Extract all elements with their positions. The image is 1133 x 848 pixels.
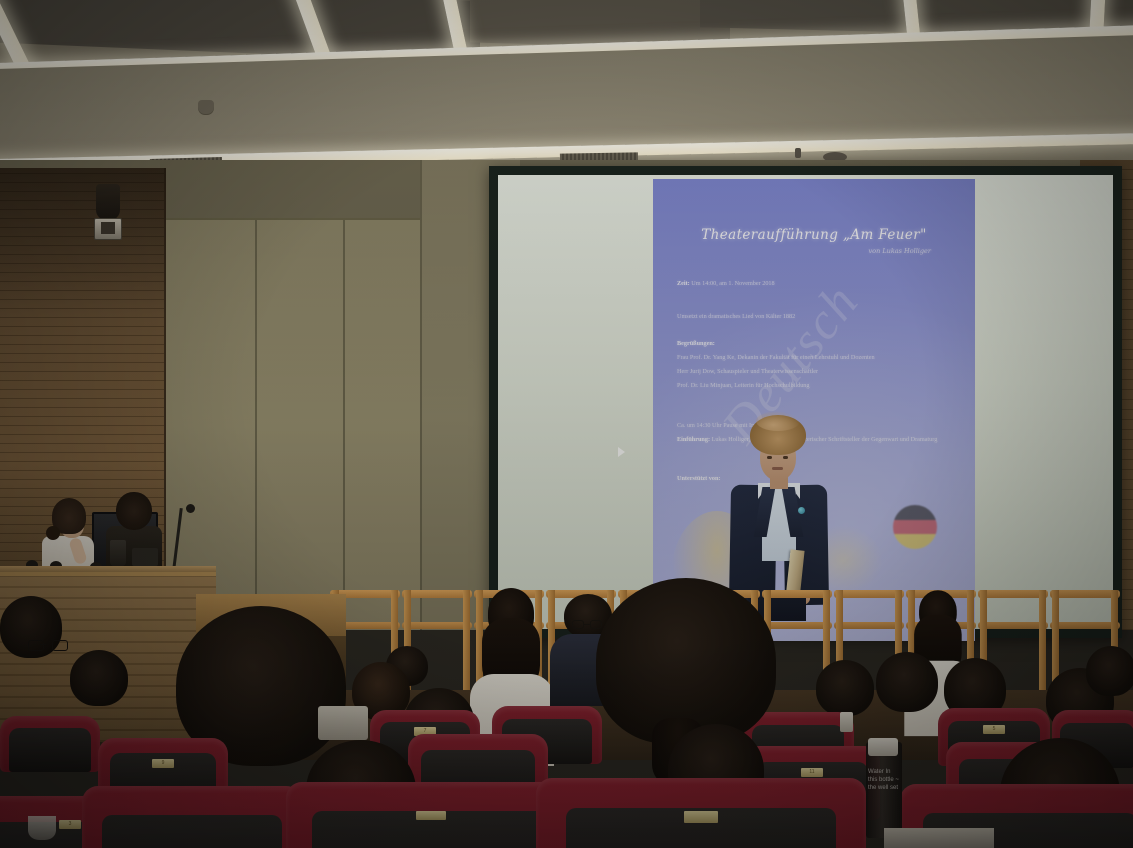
slide-line: Prof. Dr. Liu Minjuan, Leiterin für Hoch… — [677, 381, 957, 390]
audience-head — [876, 652, 938, 712]
slide-title: Theateraufführung „Am Feuer" — [653, 227, 975, 243]
seat-number-plate: 9 — [152, 759, 174, 768]
loudspeaker-bracket — [94, 218, 122, 240]
hair-bun — [46, 526, 60, 540]
audience-seating: 7 5 9 — [0, 560, 1133, 848]
glasses-icon — [28, 640, 68, 651]
audience-head — [70, 650, 128, 706]
lecture-hall-photo: Deutsch Theateraufführung „Am Feuer" von… — [0, 0, 1133, 848]
audience-seat[interactable] — [0, 716, 100, 772]
slide-author: von Lukas Holliger — [869, 247, 932, 255]
sprinkler-nozzle — [795, 148, 801, 158]
eye — [783, 456, 788, 459]
play-cursor-icon — [618, 447, 625, 457]
german-flag-circle-icon — [893, 505, 937, 549]
bottle-label-text: Water In this bottle ~ the well set — [868, 768, 900, 792]
mouth — [772, 467, 783, 470]
seat-number-plate — [684, 811, 718, 823]
audience-head — [816, 660, 874, 716]
desk-surface — [884, 828, 994, 848]
wall-shadow — [0, 168, 166, 318]
lapel-pin-icon — [798, 507, 805, 514]
drinking-glass — [28, 816, 56, 840]
bottle-cap — [868, 738, 898, 756]
audience-seat[interactable] — [286, 782, 576, 848]
seat-number-plate: 5 — [983, 725, 1005, 734]
ceiling — [0, 0, 1133, 168]
hair — [116, 492, 152, 530]
hair — [750, 415, 806, 455]
ceiling-panel — [700, 0, 930, 33]
paper-tray — [318, 706, 368, 740]
eye — [767, 456, 772, 459]
slide-line: Umsetzt ein dramatisches Lied von Kälter… — [677, 312, 957, 321]
slide-line: Zeit: Um 14:00, am 1. November 2018 — [677, 279, 957, 288]
slide-line: Begrüßungen: — [677, 339, 957, 348]
audience-head — [1086, 646, 1133, 696]
mobile-phone[interactable] — [840, 712, 853, 732]
loudspeaker-icon — [96, 184, 120, 220]
audience-seat[interactable] — [536, 778, 866, 848]
seat-number-plate — [416, 811, 446, 820]
slide-line: Frau Prof. Dr. Yang Ke, Dekanin der Faku… — [677, 353, 957, 362]
smoke-detector-icon — [198, 100, 214, 114]
slide-line: Herr Jurij Dow, Schauspieler und Theater… — [677, 367, 957, 376]
audience-seat[interactable] — [82, 786, 302, 848]
seat-number-plate: 3 — [59, 820, 81, 829]
microphone-icon — [186, 504, 195, 513]
seat-number-plate: 11 — [801, 768, 823, 777]
